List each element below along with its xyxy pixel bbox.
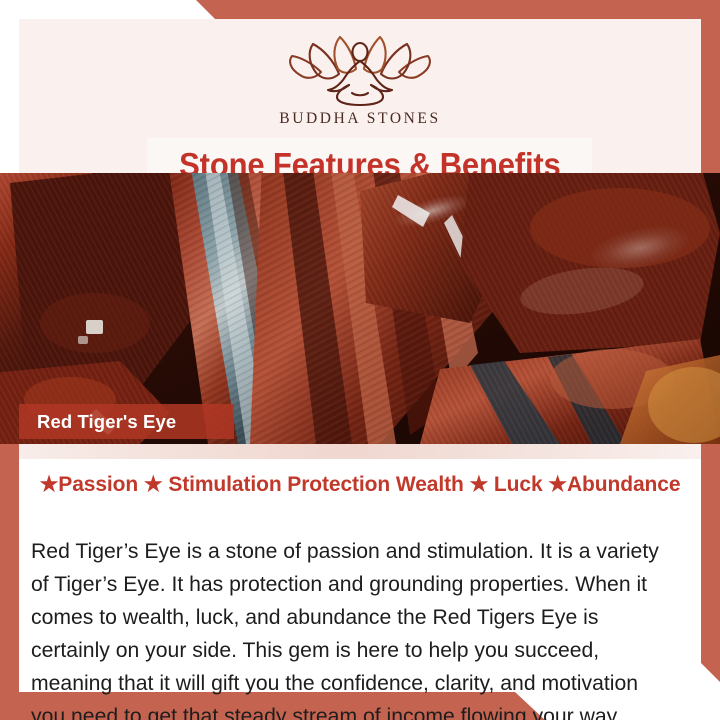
header-panel: BUDDHA STONES Stone Features & Benefits (19, 19, 701, 173)
keyword-line: ★Passion ★ Stimulation Protection Wealth… (40, 473, 681, 496)
lotus-meditation-figure-icon (280, 25, 440, 109)
description-paragraph: Red Tiger’s Eye is a stone of passion an… (31, 535, 675, 720)
brand-wordmark: BUDDHA STONES (19, 110, 701, 128)
frame-left-band (0, 443, 19, 720)
brand-logo: BUDDHA STONES (19, 25, 701, 128)
photo-caption: Red Tiger's Eye (37, 411, 176, 433)
keyword-list: ★Passion ★ Stimulation Protection Wealth… (19, 472, 701, 497)
photo-caption-band: Red Tiger's Eye (19, 404, 234, 439)
photo-fade-strip (19, 444, 701, 459)
infographic-page: BUDDHA STONES Stone Features & Benefits (0, 0, 720, 720)
